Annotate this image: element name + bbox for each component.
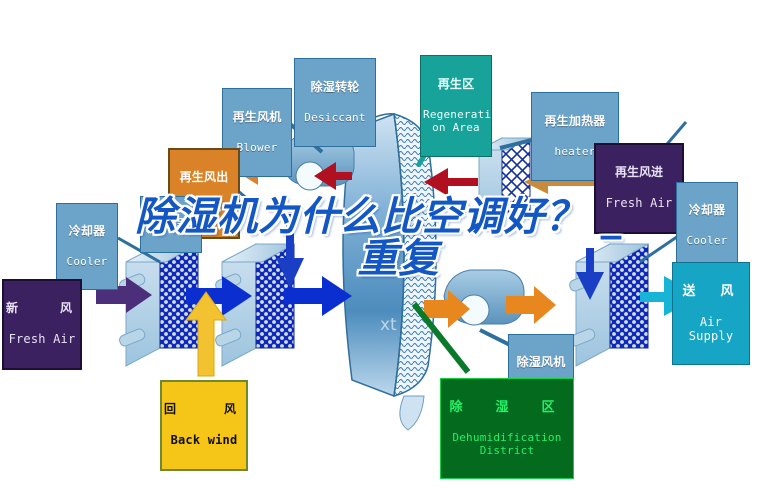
cooler-coil-right xyxy=(568,244,648,366)
label-fresh-air[interactable]: 新 风 Fresh Air xyxy=(2,279,82,370)
label-fresh-air-cn: 新 风 xyxy=(6,302,78,315)
label-cooler-mid-cn: 冷却器 xyxy=(143,218,199,231)
svg-text:xt: xt xyxy=(380,315,397,335)
label-dehum-district-cn: 除 湿 区 xyxy=(443,400,571,415)
label-back-wind-en: Back wind xyxy=(164,434,244,447)
label-regen-fresh-air-cn: 再生风进 xyxy=(598,166,680,179)
label-dehum-district-en: Dehumidification District xyxy=(443,432,571,457)
label-cooler-left-en: Cooler xyxy=(59,256,115,268)
label-regen-area-en: Regenerati on Area xyxy=(423,109,489,134)
label-air-supply-en: Air Supply xyxy=(675,316,747,343)
label-cooler-left-cn: 冷却器 xyxy=(59,225,115,238)
label-desiccant-en: Desiccant xyxy=(297,112,373,124)
label-fresh-air-en: Fresh Air xyxy=(6,333,78,346)
label-desiccant[interactable]: 除湿转轮 Desiccant xyxy=(294,58,376,147)
label-back-wind[interactable]: 回 风 Back wind xyxy=(160,380,248,471)
label-regen-fresh-air[interactable]: 再生风进 Fresh Air xyxy=(594,143,684,234)
label-exhaust-cn: 再生风出 xyxy=(172,171,236,184)
label-desiccant-cn: 除湿转轮 xyxy=(297,81,373,94)
diagram-canvas: xt xyxy=(0,0,757,488)
label-dehum-blower-cn: 除湿风机 xyxy=(511,356,571,369)
label-cooler-right-cn: 冷却器 xyxy=(679,204,735,217)
label-cooler-right-en: Cooler xyxy=(679,235,735,247)
label-cooler-right[interactable]: 冷却器 Cooler xyxy=(676,182,738,269)
label-air-supply-cn: 送 风 xyxy=(675,284,747,299)
label-cooler-mid[interactable]: 冷却器 xyxy=(140,196,202,253)
label-regen-area[interactable]: 再生区 Regenerati on Area xyxy=(420,55,492,157)
label-regen-fresh-air-en: Fresh Air xyxy=(598,197,680,210)
label-cooler-left[interactable]: 冷却器 Cooler xyxy=(56,203,118,290)
label-regen-blower-cn: 再生风机 xyxy=(225,111,289,124)
label-regen-area-cn: 再生区 xyxy=(423,78,489,91)
label-regen-heater-cn: 再生加热器 xyxy=(534,115,616,128)
label-back-wind-cn: 回 风 xyxy=(164,403,244,416)
label-air-supply[interactable]: 送 风 Air Supply xyxy=(672,262,750,365)
label-dehum-district[interactable]: 除 湿 区 Dehumidification District xyxy=(440,378,574,479)
